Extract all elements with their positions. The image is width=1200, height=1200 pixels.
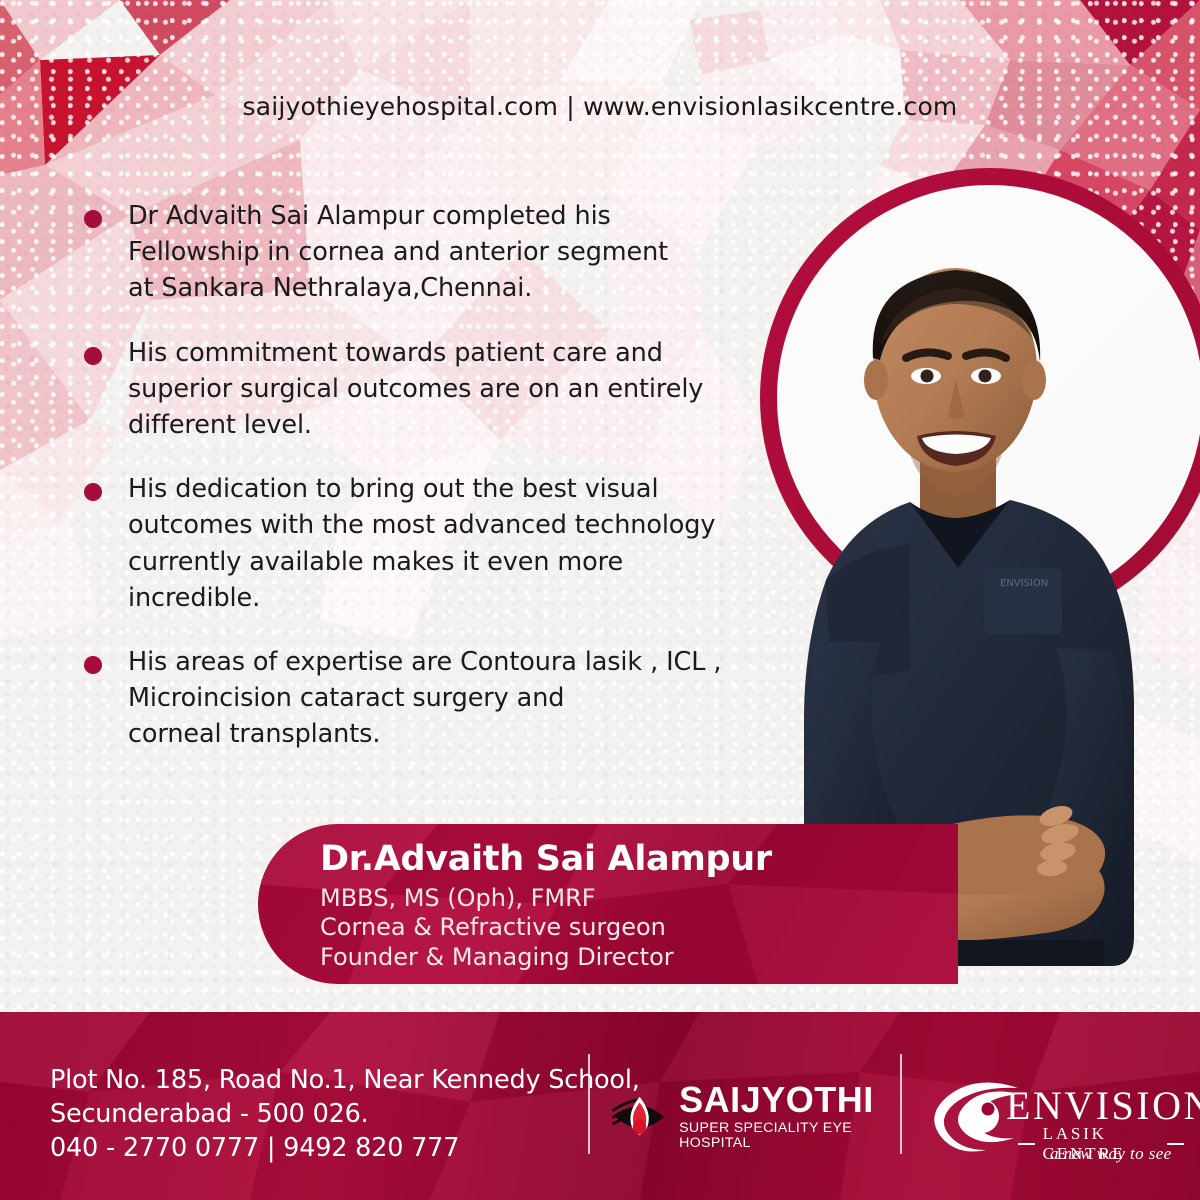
clinic-address: Plot No. 185, Road No.1, Near Kennedy Sc… bbox=[50, 1064, 640, 1166]
saijyothi-tagline: SUPER SPECIALITY EYE HOSPITAL bbox=[679, 1121, 887, 1149]
bullet-list: Dr Advaith Sai Alampur completed his Fel… bbox=[74, 198, 734, 781]
list-item: His dedication to bring out the best vis… bbox=[74, 471, 734, 616]
list-item: His commitment towards patient care and … bbox=[74, 335, 734, 444]
svg-text:ENVISION: ENVISION bbox=[1000, 578, 1048, 589]
doctor-credentials: MBBS, MS (Oph), FMRF Cornea & Refractive… bbox=[320, 884, 772, 972]
bullet-text: His dedication to bring out the best vis… bbox=[128, 471, 734, 616]
envision-name: ENVISION bbox=[1006, 1082, 1200, 1129]
dash-left-icon bbox=[1018, 1143, 1035, 1145]
bullet-dot-icon bbox=[84, 210, 102, 228]
doctor-name: Dr.Advaith Sai Alampur bbox=[320, 838, 772, 880]
banner-text-block: Dr.Advaith Sai Alampur MBBS, MS (Oph), F… bbox=[320, 838, 772, 972]
bullet-dot-icon bbox=[84, 656, 102, 674]
site-urls: saijyothieyehospital.com | www.envisionl… bbox=[0, 92, 1200, 121]
doctor-name-banner: Dr.Advaith Sai Alampur MBBS, MS (Oph), F… bbox=[258, 824, 958, 984]
bullet-text: His commitment towards patient care and … bbox=[128, 335, 734, 444]
bullet-dot-icon bbox=[84, 347, 102, 365]
bullet-text: Dr Advaith Sai Alampur completed his Fel… bbox=[128, 198, 734, 307]
saijyothi-logo[interactable]: SAIJYOTHI SUPER SPECIALITY EYE HOSPITAL bbox=[612, 1076, 887, 1156]
footer-divider-2 bbox=[900, 1054, 902, 1154]
saijyothi-name: SAIJYOTHI bbox=[679, 1082, 887, 1118]
bullet-dot-icon bbox=[84, 483, 102, 501]
saijyothi-eye-flame-icon bbox=[612, 1087, 667, 1145]
footer-divider-1 bbox=[588, 1054, 590, 1154]
list-item: Dr Advaith Sai Alampur completed his Fel… bbox=[74, 198, 734, 307]
envision-slogan: a new way to see bbox=[1050, 1144, 1172, 1164]
envision-logo[interactable]: ENVISION LASIK CENTRE a new way to see bbox=[922, 1070, 1184, 1166]
saijyothi-wordmark: SAIJYOTHI SUPER SPECIALITY EYE HOSPITAL bbox=[679, 1082, 887, 1149]
bullet-text: His areas of expertise are Contoura lasi… bbox=[128, 644, 734, 753]
poster-canvas: saijyothieyehospital.com | www.envisionl… bbox=[0, 0, 1200, 1200]
list-item: His areas of expertise are Contoura lasi… bbox=[74, 644, 734, 753]
